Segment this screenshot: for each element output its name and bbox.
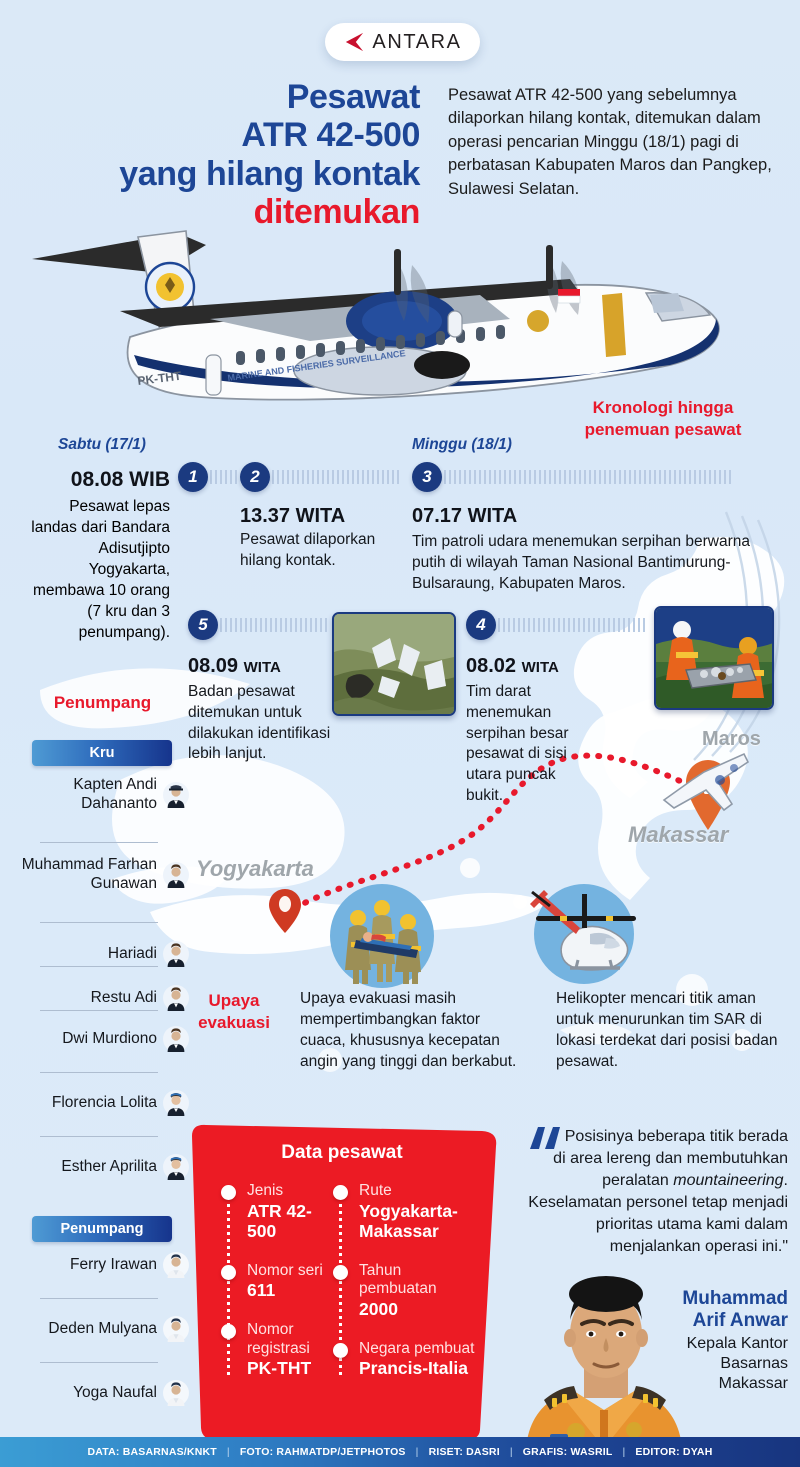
occupants-section-title: Penumpang xyxy=(20,693,185,713)
quote-italic-term: mountaineering xyxy=(673,1172,783,1189)
data-item: Negara pembuat Prancis-Italia xyxy=(333,1340,475,1379)
timeline-time-value-1: 08.08 xyxy=(71,468,124,491)
timeline-body-1: Pesawat lepas landas dari Bandara Adisut… xyxy=(22,496,170,644)
timeline-time-4: 08.02 WITA xyxy=(466,655,559,678)
timeline-time-value-5: 08.09 xyxy=(188,655,238,677)
day-label-saturday: Sabtu (17/1) xyxy=(58,436,146,454)
timeline-time-unit-3: WITA xyxy=(468,505,518,527)
timeline-photo-sar-team xyxy=(654,606,774,710)
antara-triangle-logo-icon xyxy=(343,32,365,52)
credit-separator: | xyxy=(612,1446,635,1458)
photo-sar-team-debris-icon xyxy=(656,608,774,710)
timeline-time-2: 13.37 WITA xyxy=(240,505,345,528)
quote-author-line-2: Arif Anwar xyxy=(693,1310,788,1331)
quote-role-line-1: Kepala Kantor xyxy=(687,1335,788,1352)
aircraft-illustration: PK-THT MARINE AND FISHERIES SURVEILLANCE xyxy=(10,215,750,415)
aircraft-data-card: Data pesawat Jenis ATR 42-500 Nomor seri… xyxy=(182,1122,502,1442)
timeline-event-1: 08.08 WIB Pesawat lepas landas dari Band… xyxy=(22,468,170,644)
timeline-time-3: 07.17 WITA xyxy=(412,505,517,528)
group-badge-penumpang[interactable]: Penumpang xyxy=(32,1216,172,1242)
quote-author-role: Kepala Kantor Basarnas Makassar xyxy=(560,1334,788,1394)
bullet-dot-icon xyxy=(221,1265,236,1280)
person-name: Florencia Lolita xyxy=(52,1094,157,1113)
data-item-label: Rute xyxy=(359,1182,475,1201)
list-item: Dwi Murdiono xyxy=(14,1026,189,1052)
timeline-dashes-4 xyxy=(498,618,646,632)
data-item: Nomor seri 611 xyxy=(221,1262,329,1301)
timeline-dashes-5 xyxy=(220,618,330,632)
bullet-dot-icon xyxy=(333,1265,348,1280)
day-label-sunday: Minggu (18/1) xyxy=(412,436,512,454)
aircraft-data-column-left: Jenis ATR 42-500 Nomor seri 611 Nomor re… xyxy=(221,1182,329,1399)
list-divider xyxy=(40,966,158,967)
list-divider xyxy=(40,1136,158,1137)
chronology-heading: Kronologi hingga penemuan pesawat xyxy=(548,397,778,442)
rescue-helicopter-illustration xyxy=(520,876,648,996)
rescue-team-stretcher-illustration xyxy=(322,878,442,994)
bullet-dot-icon xyxy=(221,1324,236,1339)
data-item-label: Jenis xyxy=(247,1182,329,1201)
credit-separator: | xyxy=(406,1446,429,1458)
avatar-crew-female-icon xyxy=(163,1090,189,1116)
timeline-badge-3: 3 xyxy=(412,462,442,492)
footer-credits-bar: DATA: BASARNAS/KNKT | FOTO: RAHMATDP/JET… xyxy=(0,1437,800,1467)
credit-foto: FOTO: RAHMATDP/JETPHOTOS xyxy=(240,1446,406,1458)
timeline-time-5: 08.09 WITA xyxy=(188,655,281,678)
evacuation-label-line-2: evakuasi xyxy=(198,1013,270,1032)
data-item-value: ATR 42-500 xyxy=(247,1201,329,1242)
timeline-dashes-2-3 xyxy=(272,470,402,484)
list-divider xyxy=(40,1298,158,1299)
timeline-dashes-3-right xyxy=(444,470,734,484)
list-item: Esther Aprilita xyxy=(14,1154,189,1180)
evacuation-label-line-1: Upaya xyxy=(208,991,259,1010)
list-divider xyxy=(40,1010,158,1011)
data-item: Jenis ATR 42-500 xyxy=(221,1182,329,1242)
credit-editor: EDITOR: DYAH xyxy=(635,1446,712,1458)
timeline-time-value-2: 13.37 xyxy=(240,505,290,527)
timeline-time-value-4: 08.02 xyxy=(466,655,516,677)
timeline-time-unit-5: WITA xyxy=(244,659,281,676)
headline-line-3: yang hilang kontak xyxy=(119,155,420,193)
quote-role-line-2: Basarnas xyxy=(720,1355,788,1372)
data-item-value: Yogyakarta-Makassar xyxy=(359,1201,475,1242)
data-item-value: 2000 xyxy=(359,1299,475,1320)
list-item: Restu Adi xyxy=(14,985,189,1011)
timeline-dashes-1-2 xyxy=(210,470,240,484)
person-name: Restu Adi xyxy=(91,989,157,1008)
timeline-body-5: Badan pesawat ditemukan untuk dilakukan … xyxy=(188,682,334,765)
timeline-photo-wreckage xyxy=(332,612,456,716)
avatar-crew-male-icon xyxy=(163,862,189,888)
list-item: Kapten Andi Dahananto xyxy=(14,776,189,813)
credit-separator: | xyxy=(500,1446,523,1458)
timeline-body-4: Tim darat menemukan serpihan besar pesaw… xyxy=(466,682,596,807)
data-item-label: Tahun pembuatan xyxy=(359,1262,475,1299)
credit-data: DATA: BASARNAS/KNKT xyxy=(87,1446,216,1458)
quote-author-name: Muhammad Arif Anwar xyxy=(560,1288,788,1333)
quote-text: Posisinya beberapa titik berada di area … xyxy=(520,1126,788,1258)
timeline-body-3: Tim patroli udara menemukan serpihan ber… xyxy=(412,532,764,594)
timeline-body-2: Pesawat dilaporkan hilang kontak. xyxy=(240,530,390,572)
list-item: Hariadi xyxy=(14,941,189,967)
timeline-time-unit-4: WITA xyxy=(522,659,559,676)
data-item-value: PK-THT xyxy=(247,1358,329,1379)
timeline-time-1: 08.08 WIB xyxy=(22,468,170,492)
list-item: Ferry Irawan xyxy=(14,1252,189,1278)
aircraft-data-column-right: Rute Yogyakarta-Makassar Tahun pembuatan… xyxy=(333,1182,475,1399)
data-item: Tahun pembuatan 2000 xyxy=(333,1262,475,1320)
person-name: Dwi Murdiono xyxy=(62,1030,157,1049)
person-name: Muhammad Farhan Gunawan xyxy=(14,856,157,893)
bullet-dot-icon xyxy=(333,1343,348,1358)
list-divider xyxy=(40,842,158,843)
quote-role-line-3: Makassar xyxy=(719,1375,788,1392)
antara-logo: ANTARA xyxy=(325,23,480,61)
person-name: Hariadi xyxy=(108,945,157,964)
group-badge-kru[interactable]: Kru xyxy=(32,740,172,766)
data-item-label: Nomor seri xyxy=(247,1262,329,1281)
list-divider xyxy=(40,1362,158,1363)
timeline-badge-2: 2 xyxy=(240,462,270,492)
map-pin-plane-icon xyxy=(648,742,758,834)
person-name: Esther Aprilita xyxy=(61,1158,157,1177)
timeline-time-unit-1: WIB xyxy=(129,468,170,491)
evacuation-text-2: Helikopter mencari titik aman untuk menu… xyxy=(556,988,780,1072)
chronology-heading-line-2: penemuan pesawat xyxy=(585,420,742,439)
list-item: Deden Mulyana xyxy=(14,1316,189,1342)
headline-line-2: ATR 42-500 xyxy=(241,116,420,154)
list-divider xyxy=(40,1072,158,1073)
data-item-value: Prancis-Italia xyxy=(359,1358,475,1379)
person-name: Ferry Irawan xyxy=(70,1256,157,1275)
quote-author-line-1: Muhammad xyxy=(682,1288,788,1309)
timeline-time-value-3: 07.17 xyxy=(412,505,462,527)
data-item-label: Nomor registrasi xyxy=(247,1321,329,1358)
antara-logo-text: ANTARA xyxy=(372,31,461,54)
headline-line-1: Pesawat xyxy=(287,78,420,116)
data-item-label: Negara pembuat xyxy=(359,1340,475,1359)
person-name: Yoga Naufal xyxy=(73,1384,157,1403)
timeline-time-unit-2: WITA xyxy=(296,505,346,527)
page-title: Pesawat ATR 42-500 yang hilang kontak di… xyxy=(30,78,420,232)
credit-grafis: GRAFIS: WASRIL xyxy=(523,1446,613,1458)
aircraft-data-title: Data pesawat xyxy=(182,1142,502,1164)
avatar-pilot-captain-icon xyxy=(163,782,189,808)
data-item: Nomor registrasi PK-THT xyxy=(221,1321,329,1379)
data-item-value: 611 xyxy=(247,1280,329,1301)
list-item: Florencia Lolita xyxy=(14,1090,189,1116)
data-item: Rute Yogyakarta-Makassar xyxy=(333,1182,475,1242)
map-pin-icon xyxy=(268,888,302,934)
lede-paragraph: Pesawat ATR 42-500 yang sebelumnya dilap… xyxy=(448,84,778,201)
list-divider xyxy=(40,922,158,923)
chronology-heading-line-1: Kronologi hingga xyxy=(593,398,734,417)
timeline-badge-4: 4 xyxy=(466,610,496,640)
bullet-dot-icon xyxy=(333,1185,348,1200)
bullet-dot-icon xyxy=(221,1185,236,1200)
timeline-badge-1: 1 xyxy=(178,462,208,492)
person-name: Kapten Andi Dahananto xyxy=(14,776,157,813)
photo-wreckage-hillside-icon xyxy=(334,614,456,716)
credit-riset: RISET: DASRI xyxy=(429,1446,500,1458)
list-item: Yoga Naufal xyxy=(14,1380,189,1406)
timeline-badge-5: 5 xyxy=(188,610,218,640)
person-name: Deden Mulyana xyxy=(48,1320,157,1339)
evacuation-text-1: Upaya evakuasi masih mempertimbangkan fa… xyxy=(300,988,530,1072)
map-label-yogyakarta: Yogyakarta xyxy=(196,856,314,882)
avatar-crew-male-icon xyxy=(163,941,189,967)
evacuation-label: Upaya evakuasi xyxy=(178,990,290,1034)
list-item: Muhammad Farhan Gunawan xyxy=(14,856,189,893)
credit-separator: | xyxy=(217,1446,240,1458)
